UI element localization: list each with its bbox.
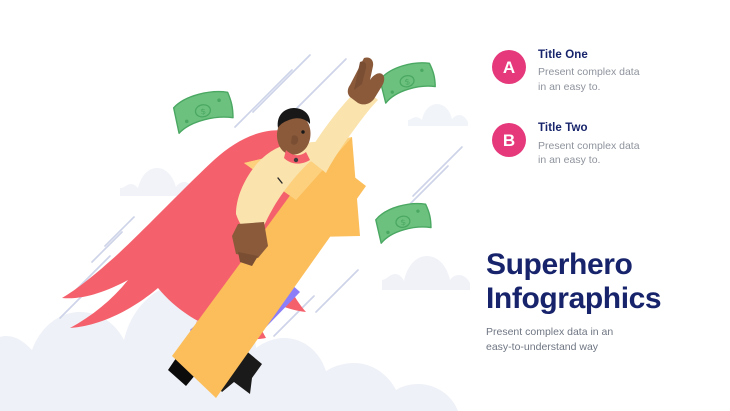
cloud-small-bottom-right [382, 256, 470, 290]
cloud-small-center-right [408, 104, 468, 126]
money-bill-right: $ [374, 200, 433, 243]
bullet-b-desc-line1: Present complex data [538, 139, 640, 154]
badge-b: B [492, 123, 526, 157]
superhero-illustration: $ $ $ [0, 0, 470, 411]
bullet-item-a[interactable]: A Title One Present complex data in an e… [492, 48, 707, 95]
slide-canvas: $ $ $ [0, 0, 730, 411]
headline-sub-line-2: easy-to-understand way [486, 340, 716, 355]
headline-line-2: Infographics [486, 282, 716, 316]
bullet-b-desc-line2: in an easy to. [538, 153, 640, 168]
bullet-a-desc-line1: Present complex data [538, 65, 640, 80]
bullet-a-title: Title One [538, 48, 640, 62]
money-bill-top-right: $ [378, 59, 438, 103]
headline-line-1: Superhero [486, 248, 716, 282]
bullet-list: A Title One Present complex data in an e… [492, 48, 707, 194]
bullet-b-text: Title Two Present complex data in an eas… [538, 121, 640, 168]
badge-a: A [492, 50, 526, 84]
superhero-head [277, 108, 311, 155]
headline-block: Superhero Infographics Present complex d… [486, 248, 716, 355]
superhero-raised-hand [348, 57, 385, 104]
headline-sub-line-1: Present complex data in an [486, 325, 716, 340]
bullet-b-title: Title Two [538, 121, 640, 135]
bullet-a-desc-line2: in an easy to. [538, 80, 640, 95]
bullet-a-text: Title One Present complex data in an eas… [538, 48, 640, 95]
money-bill-left: $ [172, 88, 235, 133]
headline-subtitle: Present complex data in an easy-to-under… [486, 325, 716, 355]
bullet-item-b[interactable]: B Title Two Present complex data in an e… [492, 121, 707, 168]
